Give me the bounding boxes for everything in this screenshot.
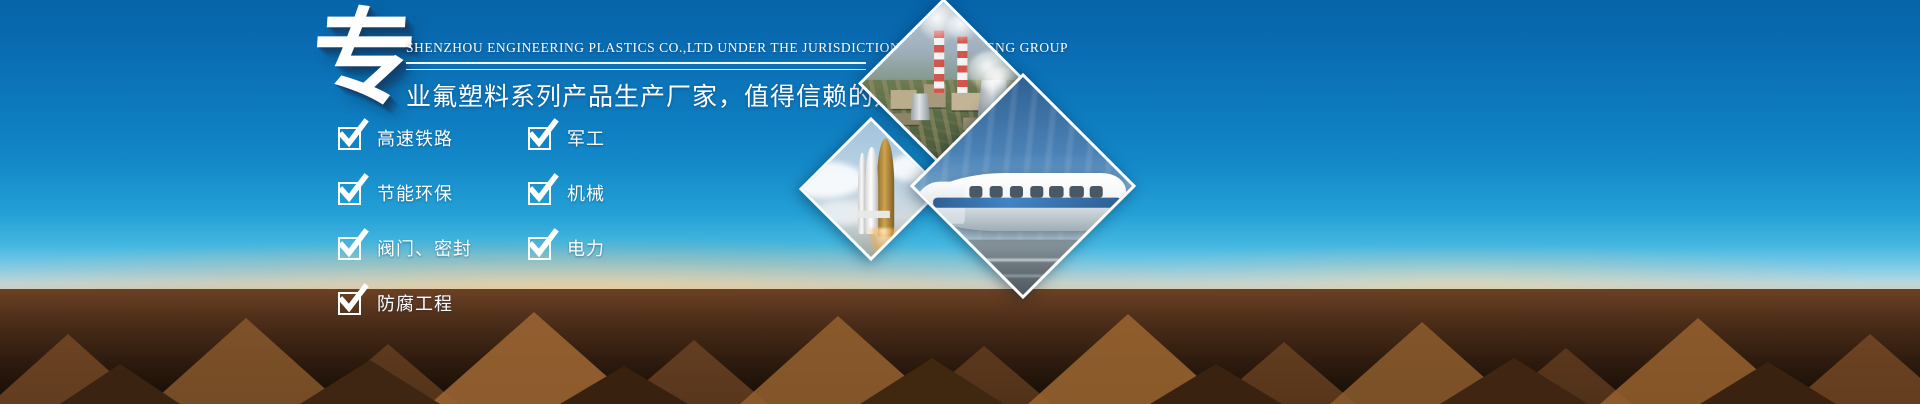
feature-label: 电力 [567,235,605,261]
feature-item-valve-seal[interactable]: 阀门、密封 [338,230,472,266]
promotional-banner: 专 SHENZHOU ENGINEERING PLASTICS CO.,LTD … [0,0,1920,404]
checkbox-checked-icon [338,127,361,150]
checkbox-checked-icon [338,182,361,205]
feature-label: 节能环保 [377,180,453,206]
divider-rule [406,62,866,70]
checkbox-checked-icon [338,237,361,260]
feature-item-military[interactable]: 军工 [528,120,605,156]
feature-item-anticorrosion[interactable]: 防腐工程 [338,285,472,321]
feature-column-right: 军工 机械 电力 [528,120,605,285]
feature-item-high-speed-rail[interactable]: 高速铁路 [338,120,472,156]
feature-item-energy-saving[interactable]: 节能环保 [338,175,472,211]
feature-column-left: 高速铁路 节能环保 阀门、密封 防腐工程 [338,120,472,340]
feature-label: 机械 [567,180,605,206]
checkbox-checked-icon [528,182,551,205]
checkbox-checked-icon [338,292,361,315]
feature-label: 防腐工程 [377,290,453,316]
feature-item-machinery[interactable]: 机械 [528,175,605,211]
checkbox-checked-icon [528,237,551,260]
feature-label: 高速铁路 [377,125,453,151]
feature-item-power[interactable]: 电力 [528,230,605,266]
photo-cluster [820,10,1240,290]
feature-label: 阀门、密封 [377,235,472,261]
checkbox-checked-icon [528,127,551,150]
feature-label: 军工 [567,125,605,151]
